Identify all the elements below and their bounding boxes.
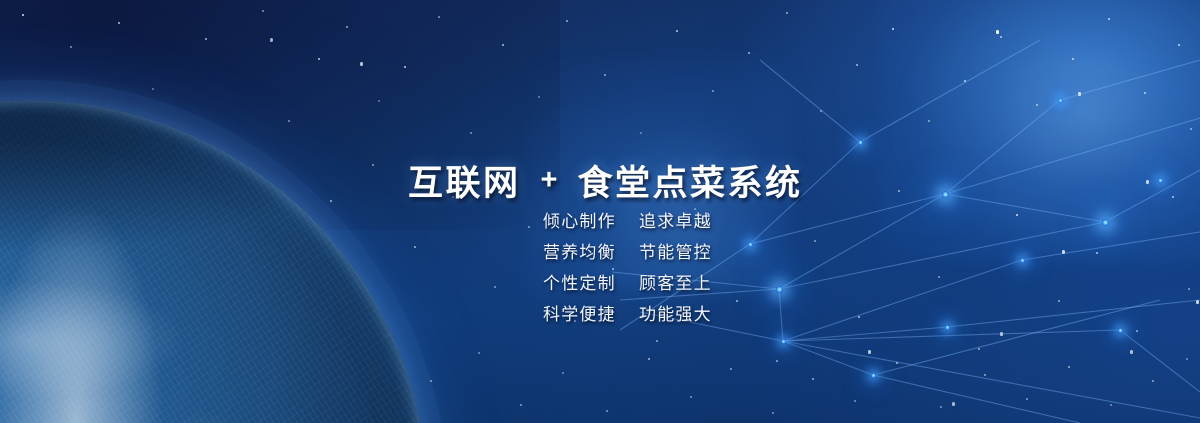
slogan-right-text: 顾客至上 xyxy=(639,271,712,297)
slogan-line: 倾心制作 追求卓越 xyxy=(543,209,712,235)
network-node xyxy=(945,325,950,330)
network-node xyxy=(858,140,863,145)
network-node xyxy=(1020,258,1025,263)
slogan-list: 倾心制作 追求卓越 营养均衡 节能管控 个性定制 顾客至上 科学便捷 功能强大 xyxy=(543,209,712,328)
page-title: 互联网 + 食堂点菜系统 xyxy=(408,155,802,206)
hero-banner: 互联网 + 食堂点菜系统 倾心制作 追求卓越 营养均衡 节能管控 个性定制 顾客… xyxy=(0,0,1200,423)
network-node xyxy=(1102,219,1109,226)
network-node xyxy=(871,373,876,378)
network-node xyxy=(1118,328,1123,333)
slogan-left-text: 科学便捷 xyxy=(543,302,639,328)
network-node xyxy=(776,286,783,293)
page-title-part-2: 食堂点菜系统 xyxy=(577,155,802,206)
slogan-left-text: 个性定制 xyxy=(543,271,639,297)
slogan-left-text: 营养均衡 xyxy=(543,240,639,266)
slogan-left-text: 倾心制作 xyxy=(543,209,639,235)
page-title-part-1: 互联网 xyxy=(408,155,521,206)
slogan-line: 营养均衡 节能管控 xyxy=(543,240,712,266)
network-node xyxy=(748,242,753,247)
network-node xyxy=(1158,178,1163,183)
slogan-right-text: 节能管控 xyxy=(639,240,712,266)
network-node xyxy=(781,339,786,344)
plus-symbol: + xyxy=(539,164,560,197)
network-node xyxy=(1058,98,1063,103)
slogan-right-text: 追求卓越 xyxy=(639,209,712,235)
network-node xyxy=(942,191,949,198)
slogan-line: 个性定制 顾客至上 xyxy=(543,271,712,297)
slogan-line: 科学便捷 功能强大 xyxy=(543,302,712,328)
slogan-right-text: 功能强大 xyxy=(639,302,712,328)
